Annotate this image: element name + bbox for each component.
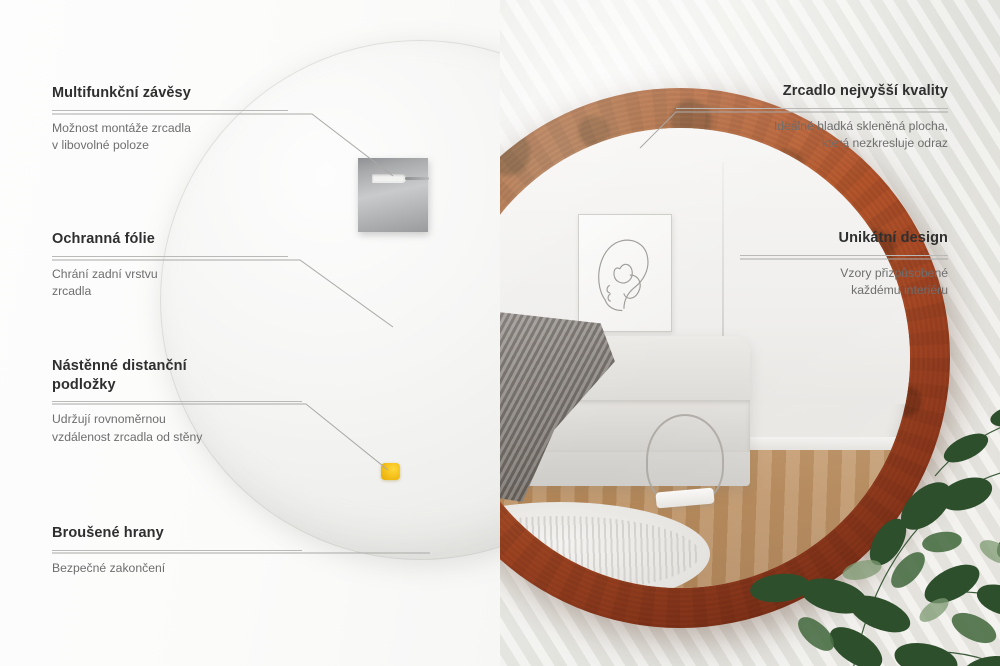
callout-title: Nástěnné distanční podložky xyxy=(52,357,302,394)
callout-title: Unikátní design xyxy=(740,229,948,248)
callout-rule xyxy=(740,255,948,256)
leaves-icon xyxy=(730,356,1000,666)
spacer-pad xyxy=(381,463,400,480)
callout-title: Ochranná fólie xyxy=(52,230,288,249)
callout-body: Vzory přizpůsobené každému interiéru xyxy=(740,265,948,301)
reflection-line-art-poster xyxy=(578,214,672,332)
callout-zrcadlo-nejvyssi-kvality: Zrcadlo nejvyšší kvality Ideálně hladká … xyxy=(676,82,948,153)
callout-multifunkcni-zavesy: Multifunkční závěsy Možnost montáže zrca… xyxy=(52,84,288,155)
callout-title: Multifunkční závěsy xyxy=(52,84,288,103)
callout-unikatni-design: Unikátní design Vzory přizpůsobené každé… xyxy=(740,229,948,300)
callout-nastenne-distancni-podlozky: Nástěnné distanční podložky Udržují rovn… xyxy=(52,357,302,447)
callout-rule xyxy=(676,108,948,109)
face-line-art-icon xyxy=(587,223,663,323)
callout-body: Bezpečné zakončení xyxy=(52,560,302,578)
foliage-plant xyxy=(730,356,1000,666)
callout-body: Udržují rovnoměrnou vzdálenost zrcadla o… xyxy=(52,411,302,447)
callout-ochranna-folie: Ochranná fólie Chrání zadní vrstvu zrcad… xyxy=(52,230,288,301)
callout-body: Možnost montáže zrcadla v libovolné polo… xyxy=(52,120,288,156)
callout-body: Ideálně hladká skleněná plocha, která ne… xyxy=(676,118,948,154)
callout-body: Chrání zadní vrstvu zrcadla xyxy=(52,266,288,302)
callout-title: Zrcadlo nejvyšší kvality xyxy=(676,82,948,101)
callout-rule xyxy=(52,110,288,111)
callout-rule xyxy=(52,401,302,402)
hanger-plate xyxy=(358,158,428,232)
infographic-stage: Multifunkční závěsy Možnost montáže zrca… xyxy=(0,0,1000,666)
callout-title: Broušené hrany xyxy=(52,524,302,543)
callout-rule xyxy=(52,550,302,551)
callout-brousene-hrany: Broušené hrany Bezpečné zakončení xyxy=(52,524,302,577)
callout-rule xyxy=(52,256,288,257)
hanger-keyhole-slot xyxy=(372,174,406,182)
